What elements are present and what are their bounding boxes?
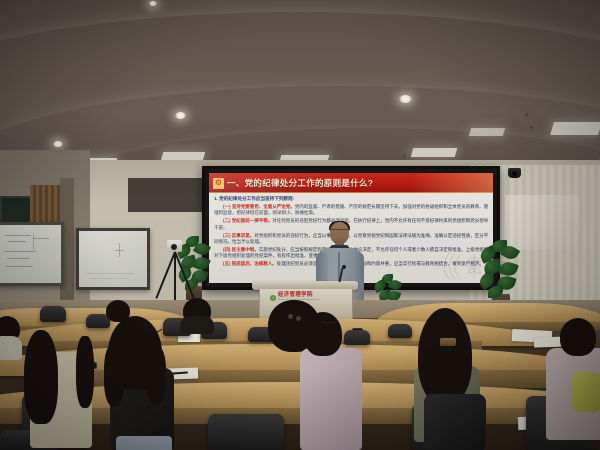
left-whiteboard	[0, 222, 64, 286]
audience-member	[404, 308, 488, 438]
microphone-icon	[342, 265, 346, 269]
audience-hair	[24, 330, 58, 424]
upper-wall-shadow	[128, 178, 206, 212]
party-emblem-icon: ⚙	[213, 178, 224, 189]
audience-hair	[304, 312, 342, 356]
ceiling-downlight	[53, 141, 63, 147]
chair[interactable]	[208, 414, 284, 450]
audience-member	[16, 330, 94, 450]
slide-lead-text: 1. 党的纪律处分工作应当坚持下列原则:	[214, 196, 489, 202]
audience-jeans	[116, 436, 172, 450]
audience-member	[296, 312, 366, 450]
slide-header-bar: ⚙ 一、党的纪律处分工作的原则是什么?	[209, 173, 493, 193]
audience-jacket	[300, 348, 362, 450]
potted-plant-right	[478, 240, 522, 300]
slide-point-key: (一) 坚持党要管党、全面从严治党。	[223, 204, 295, 209]
slide-point-key: (二) 党纪面前一律平等。	[223, 218, 272, 223]
slide-title: 一、党的纪律处分工作的原则是什么?	[227, 177, 373, 189]
camera-on-tripod	[158, 240, 192, 306]
ceiling	[0, 0, 600, 185]
audience-sleeve	[572, 372, 600, 412]
audience-hair	[418, 308, 472, 404]
center-whiteboard	[76, 228, 150, 290]
slide-point-key: (四) 民主集中制。	[223, 247, 259, 252]
audience-member	[0, 316, 24, 356]
audience-hair	[560, 318, 596, 356]
presenter-glasses-icon	[331, 229, 348, 234]
audience-member	[180, 298, 214, 330]
audience-member	[572, 372, 600, 412]
audience-glasses-icon	[322, 322, 336, 328]
backpack	[424, 394, 486, 450]
audience-member	[104, 300, 132, 326]
lecture-hall-photo: ⚙ 一、党的纪律处分工作的原则是什么? 1. 党的纪律处分工作应当坚持下列原则:…	[0, 0, 600, 450]
audience-member	[94, 316, 180, 450]
ceiling-panel-light	[469, 128, 505, 136]
ceiling-panel-light	[550, 122, 600, 135]
camera-lens-icon	[171, 244, 177, 250]
ceiling-panel-light	[411, 148, 458, 157]
chair[interactable]	[40, 306, 66, 322]
ceiling-downlight	[149, 1, 157, 6]
ceiling-downlight	[175, 112, 186, 119]
slide-point: (一) 坚持党要管党、全面从严治党。党内的监督、严肃的措施、严厉的规范长期坚持下…	[214, 204, 489, 217]
hair-clip	[440, 338, 456, 346]
wall-camera-lens-icon	[512, 171, 517, 176]
ceiling-downlight	[399, 95, 412, 103]
slide-point-key: (五) 惩前毖后、治病救人。	[223, 261, 277, 266]
slide-point-key: (三) 实事求是。	[223, 233, 254, 238]
audience-hair	[76, 336, 94, 408]
